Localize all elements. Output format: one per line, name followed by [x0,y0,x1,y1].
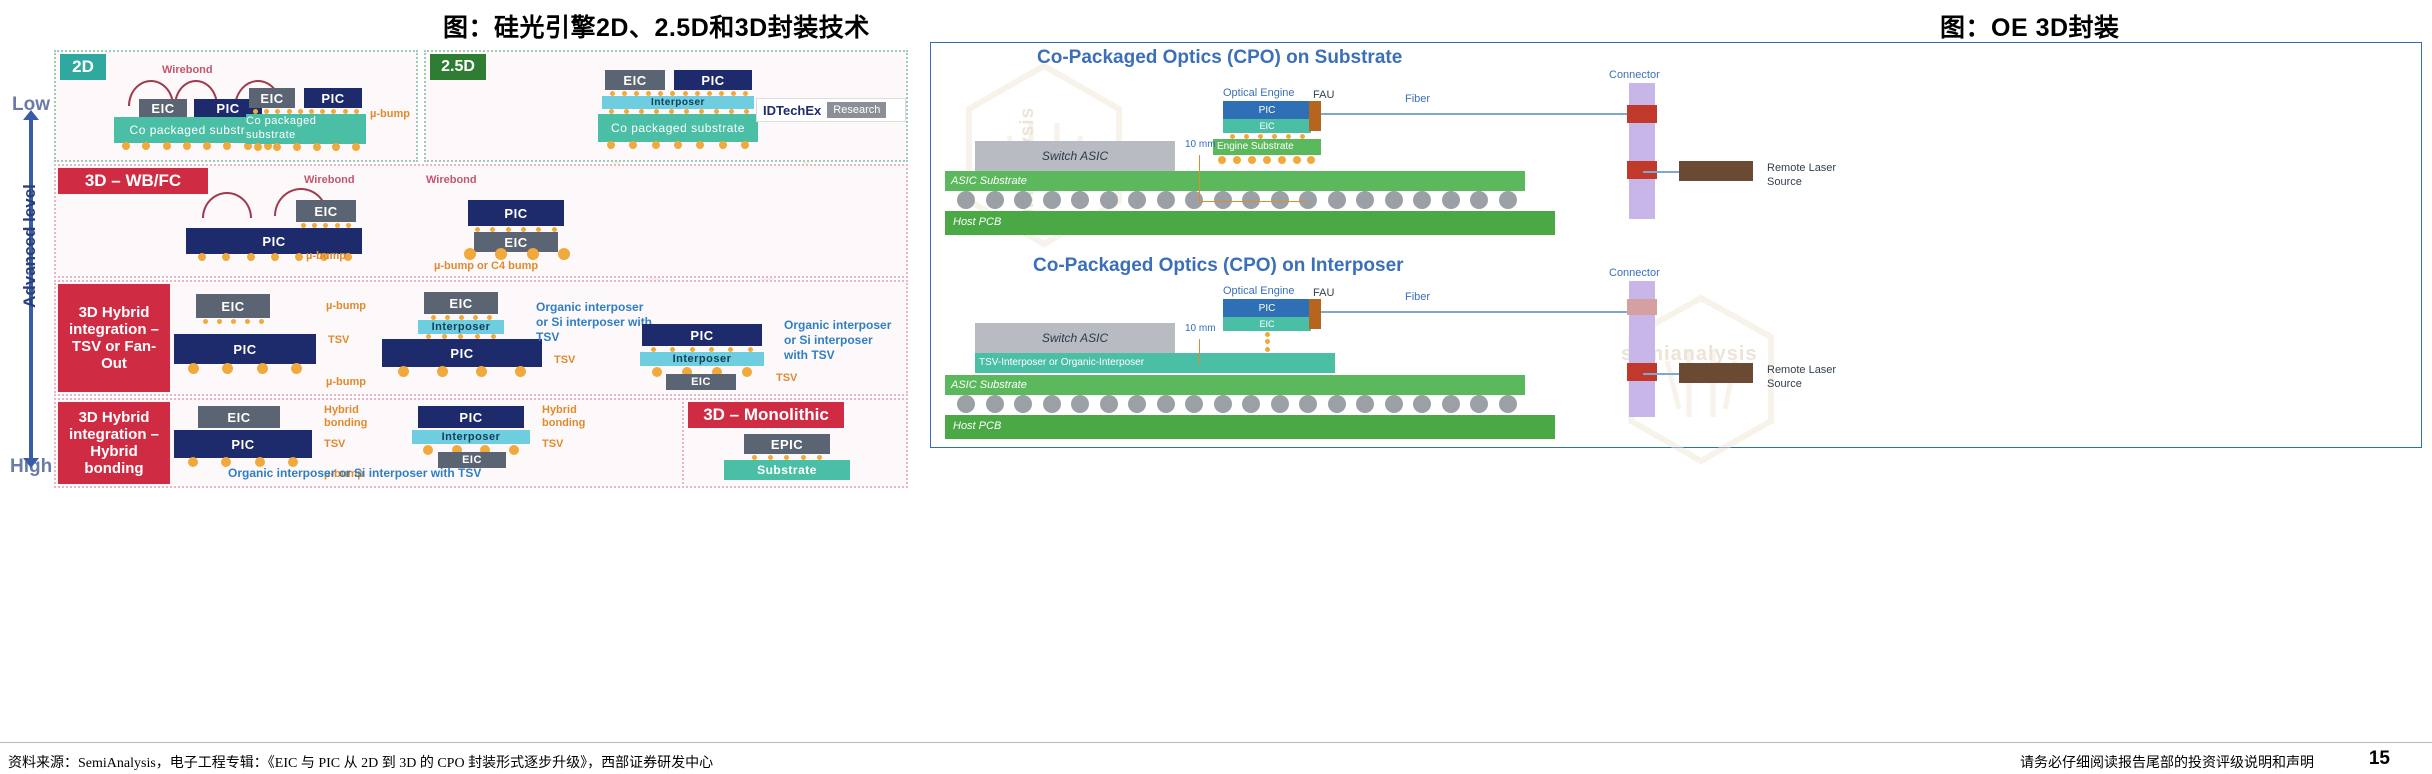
anno-hybrid-bonding-2: Hybrid bonding [542,404,598,430]
footer-source: 资料来源：SemiAnalysis，电子工程专辑：《EIC 与 PIC 从 2D… [8,752,713,772]
anno-wirebond-wbfc-2: Wirebond [426,174,477,186]
bump-row [454,248,580,260]
anno-tsv1: TSV [328,334,349,346]
chip-co-packaged-substrate: Co packaged substrate [246,114,366,144]
optical-engine-label: Optical Engine [1223,285,1295,297]
chip-eic: EIC [296,200,356,222]
pic-box: PIC [1223,101,1311,119]
anno-wirebond-2d: Wirebond [162,64,213,76]
fau-label: FAU [1313,89,1334,101]
chip-eic: EIC [249,88,295,108]
tag-3d-hybrid-tsv: 3D Hybrid integration – TSV or Fan-Out [58,284,170,392]
anno-mu-bump-c4: µ-bump or C4 bump [434,260,538,272]
host-pcb-label: Host PCB [953,216,1001,228]
fiber-label: Fiber [1405,291,1430,303]
chip-pic: PIC [174,334,316,364]
chip-pic: PIC [174,430,312,458]
distance-10mm-label: 10 mm [1185,323,1215,334]
chip-eic: EIC [605,70,665,90]
remote-laser-source-block [1679,363,1753,383]
host-pcb-bar [945,415,1555,439]
advanced-level-axis: Low High Advanced level [6,86,52,486]
anno-organic-interposer-3: Organic interposer or Si interposer with… [228,466,528,481]
bga-ball-row [957,395,1517,413]
axis-arrow-down-icon [23,458,39,468]
anno-wirebond-wbfc: Wirebond [304,174,355,186]
right-diagram-panel: semianalysis semianalysis Co-Packaged Op… [930,42,2422,448]
chip-pic: PIC [418,406,524,428]
fau-block [1309,101,1321,131]
chip-substrate: Substrate [724,460,850,480]
connector-port-top [1627,299,1657,315]
connector-block [1629,83,1655,219]
chip-interposer: Interposer [640,352,764,366]
bump-row [176,362,314,374]
tag-3d-monolithic: 3D – Monolithic [688,402,844,428]
left-diagram-panel: semianalysis Low High Advanced level 2D … [6,42,912,446]
host-pcb-label: Host PCB [953,420,1001,432]
fau-block [1309,299,1321,329]
anno-mu-bump-tsv2: µ-bump [326,376,366,388]
switch-asic-box: Switch ASIC [975,323,1175,353]
tag-3d-wbfc: 3D – WB/FC [58,168,208,194]
page-title-left: 图：硅光引擎2D、2.5D和3D封装技术 [443,8,870,44]
optical-engine-label: Optical Engine [1223,87,1295,99]
eic-box: EIC [1223,317,1311,331]
distance-10mm-label: 10 mm [1185,139,1215,150]
cpo-interposer-title: Co-Packaged Optics (CPO) on Interposer [1033,255,1404,277]
dimension-line-horizontal [1199,201,1307,202]
axis-title: Advanced level [20,176,40,316]
connector-label: Connector [1609,267,1660,279]
remote-laser-source-block [1679,161,1753,181]
remote-laser-source-label: Remote Laser Source [1767,161,1847,190]
anno-organic-interposer-2: Organic interposer or Si interposer with… [784,318,892,363]
idtechex-logo-name: IDTechEx [757,103,821,118]
bump-row [1215,155,1319,165]
remote-laser-source-label: Remote Laser Source [1767,363,1847,392]
tag-3d-hybrid-bonding: 3D Hybrid integration – Hybrid bonding [58,402,170,484]
dimension-line-vertical [1199,155,1200,203]
asic-substrate-label: ASIC Substrate [951,379,1027,391]
tag-25d: 2.5D [430,54,486,80]
chip-interposer: Interposer [412,430,530,444]
page-title-right: 图：OE 3D封装 [1940,8,2120,44]
fau-label: FAU [1313,287,1334,299]
chip-interposer: Interposer [418,320,504,334]
chip-pic: PIC [642,324,762,346]
anno-mu-bump-wbfc: µ-bump [306,250,346,262]
switch-asic-box: Switch ASIC [975,141,1175,171]
chip-eic: EIC [424,292,498,314]
chip-co-packaged-substrate: Co packaged substrate [598,114,758,142]
slide-root: 图：硅光引擎2D、2.5D和3D封装技术 图：OE 3D封装 semianaly… [0,0,2432,774]
bga-ball-row [957,191,1517,209]
chip-eic: EIC [198,406,280,428]
asic-substrate-label: ASIC Substrate [951,175,1027,187]
pic-box: PIC [1223,299,1311,317]
anno-tsv3: TSV [776,372,797,384]
chip-eic: EIC [666,374,736,390]
chip-pic: PIC [304,88,362,108]
chip-pic: PIC [382,339,542,367]
engine-substrate-label: Engine Substrate [1217,141,1294,152]
bump-row [198,318,268,324]
fiber-line [1321,311,1643,313]
bump-row [600,140,756,150]
idtechex-logo-suffix: Research [827,102,886,118]
asic-substrate-bar [945,171,1525,191]
bump-row [248,142,366,152]
anno-organic-interposer-1: Organic interposer or Si interposer with… [536,300,656,345]
chip-eic: EIC [196,294,270,318]
footer-note: 请务必仔细阅读报告尾部的投资评级说明和声明 [2020,752,2314,772]
chip-pic: PIC [468,200,564,226]
asic-substrate-bar [945,375,1525,395]
cpo-substrate-title: Co-Packaged Optics (CPO) on Substrate [1037,47,1402,69]
tsv-interposer-label: TSV-Interposer or Organic-Interposer [979,357,1144,368]
idtechex-logo: IDTechEx Research [756,98,906,122]
fiber-label: Fiber [1405,93,1430,105]
connector-port-bottom [1627,161,1657,179]
fiber-line [1643,171,1683,173]
footer-page-number: 15 [2369,748,2390,770]
anno-tsv-hb1: TSV [324,438,345,450]
fiber-line [1643,373,1683,375]
fiber-line [1321,113,1643,115]
chip-epic: EPIC [744,434,830,454]
anno-mu-bump-tsv1: µ-bump [326,300,366,312]
anno-hybrid-bonding-1: Hybrid bonding [324,404,380,430]
tag-2d: 2D [60,54,106,80]
chip-eic: EIC [139,99,187,117]
bump-column [1225,331,1309,353]
dimension-line-vertical [1199,339,1200,365]
anno-tsv2: TSV [554,354,575,366]
connector-port-bottom [1627,363,1657,381]
bump-row [384,365,540,377]
footer-divider [0,742,2432,743]
connector-label: Connector [1609,69,1660,81]
connector-port-top [1627,105,1657,123]
chip-pic: PIC [674,70,752,90]
anno-mu-bump-2d: µ-bump [370,108,410,120]
anno-tsv-hb2: TSV [542,438,563,450]
host-pcb-bar [945,211,1555,235]
eic-box: EIC [1223,119,1311,133]
